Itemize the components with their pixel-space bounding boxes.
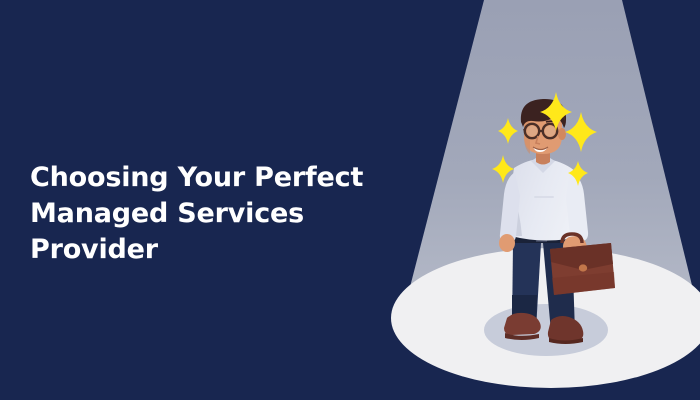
page-title: Choosing Your Perfect Managed Services P… [30,160,430,268]
character-ground-shadow [484,304,608,356]
briefcase-clasp [579,264,587,271]
headline-line-2: Managed Services [30,196,430,232]
headline-line-1: Choosing Your Perfect [30,160,430,196]
ear [558,128,566,140]
shirt-pocket-line [534,196,554,198]
headline-line-3: Provider [30,232,430,268]
left-hand [499,234,515,252]
promo-banner: Choosing Your Perfect Managed Services P… [0,0,700,400]
